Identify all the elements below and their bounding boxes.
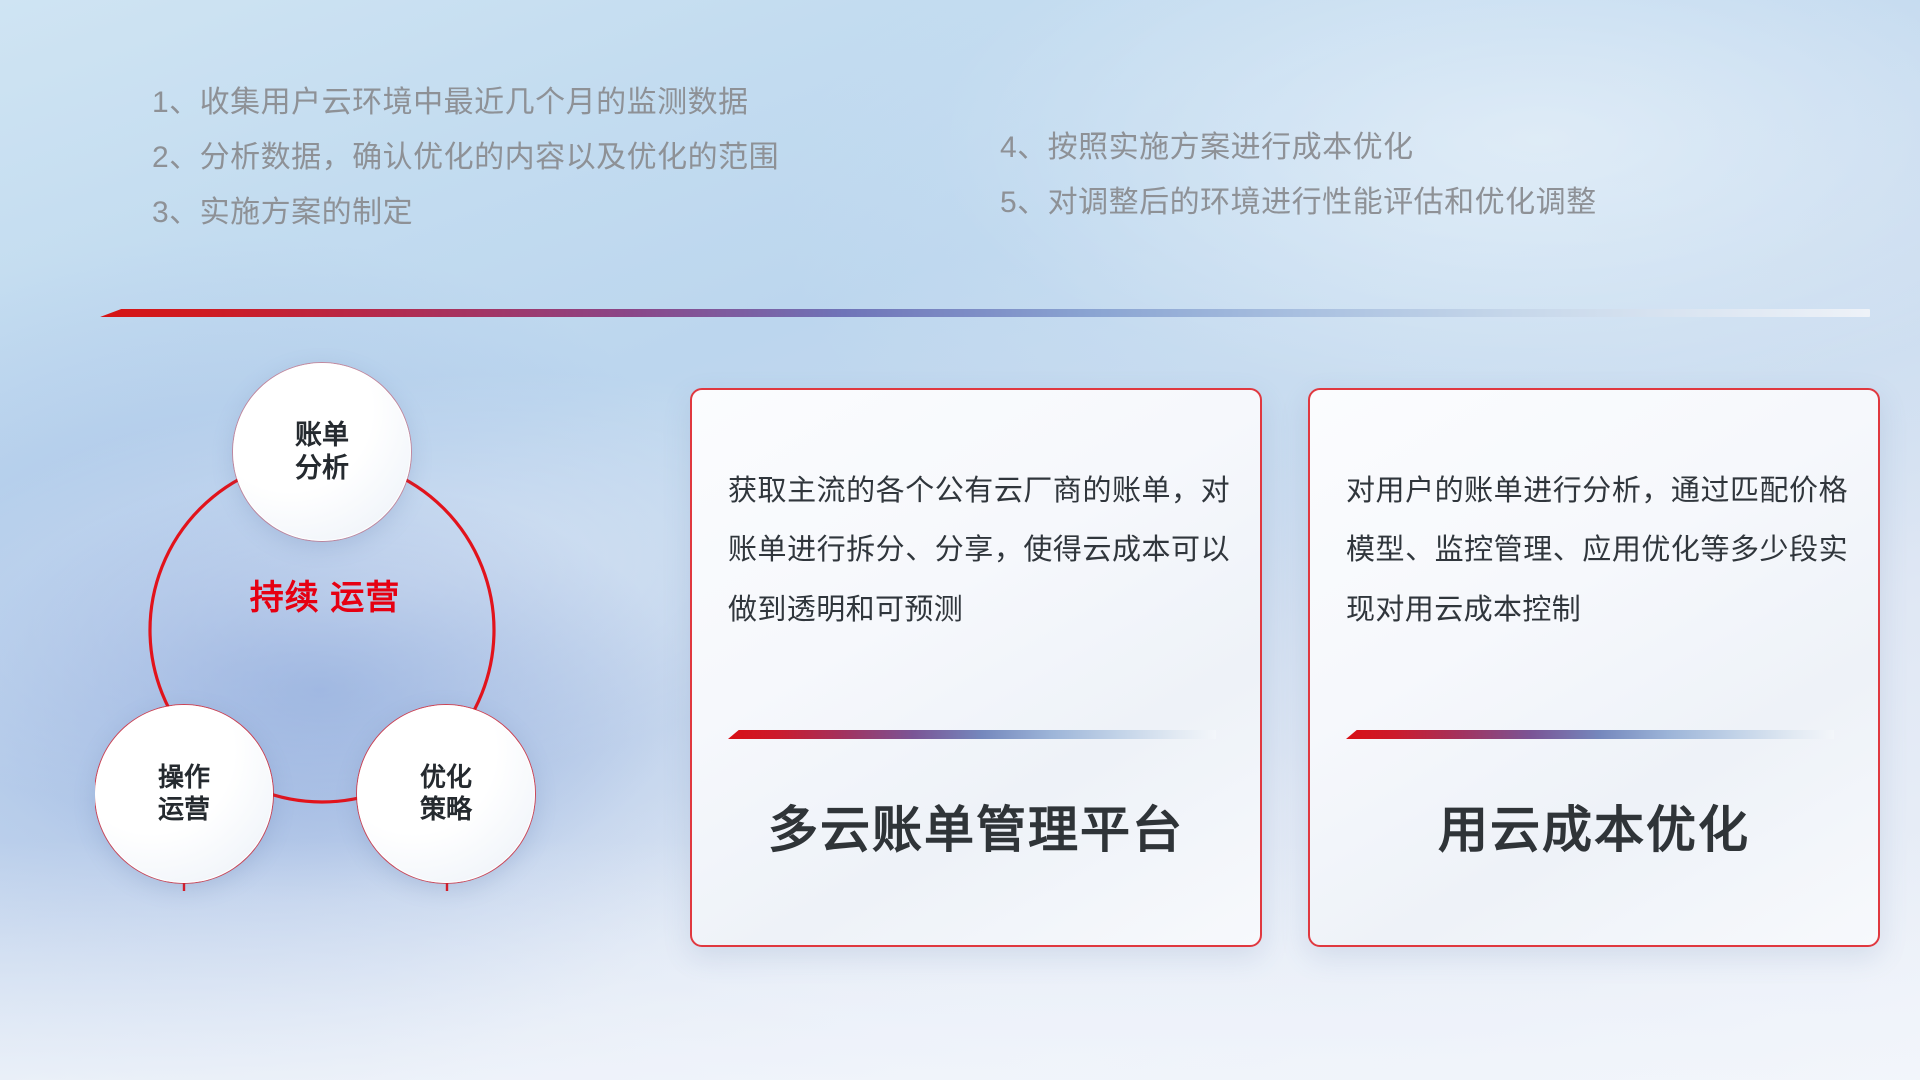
card-cloud-cost-optimization-title: 用云成本优化 (1310, 790, 1878, 862)
section-divider (100, 309, 1870, 317)
cycle-node-bill-analysis-line2: 分析 (295, 452, 349, 485)
step-item-2: 2、分析数据，确认优化的内容以及优化的范围 (152, 143, 779, 173)
cycle-node-operations-line2: 运营 (158, 794, 210, 826)
step-item-1: 1、收集用户云环境中最近几个月的监测数据 (152, 88, 779, 118)
step-item-3: 3、实施方案的制定 (152, 198, 779, 228)
card-multi-cloud-billing[interactable]: 获取主流的各个公有云厂商的账单，对账单进行拆分、分享，使得云成本可以做到透明和可… (690, 388, 1262, 947)
card-cloud-cost-optimization[interactable]: 对用户的账单进行分析，通过匹配价格模型、监控管理、应用优化等多少段实现对用云成本… (1308, 388, 1880, 947)
cycle-node-operations-line1: 操作 (158, 762, 210, 794)
cycle-diagram: 账单 分析 操作 运营 优化 策略 持续 运营 (95, 355, 655, 955)
cycle-node-optimization-strategy[interactable]: 优化 策略 (357, 705, 535, 883)
slide-canvas: 1、收集用户云环境中最近几个月的监测数据 2、分析数据，确认优化的内容以及优化的… (0, 0, 1920, 1080)
cycle-center-label-line2: 运营 (330, 579, 400, 617)
card-cloud-cost-optimization-body: 对用户的账单进行分析，通过匹配价格模型、监控管理、应用优化等多少段实现对用云成本… (1346, 462, 1848, 640)
cycle-node-operations[interactable]: 操作 运营 (95, 705, 273, 883)
cycle-node-optimization-line2: 策略 (420, 794, 472, 826)
card-multi-cloud-billing-body: 获取主流的各个公有云厂商的账单，对账单进行拆分、分享，使得云成本可以做到透明和可… (728, 462, 1230, 640)
steps-section: 1、收集用户云环境中最近几个月的监测数据 2、分析数据，确认优化的内容以及优化的… (0, 88, 1920, 258)
steps-column-left: 1、收集用户云环境中最近几个月的监测数据 2、分析数据，确认优化的内容以及优化的… (152, 88, 779, 253)
card-cloud-cost-optimization-rule (1346, 730, 1834, 739)
background-light-streak-right (940, 0, 1920, 400)
cycle-node-bill-analysis[interactable]: 账单 分析 (233, 363, 411, 541)
cycle-node-bill-analysis-line1: 账单 (295, 419, 349, 452)
cycle-node-optimization-line1: 优化 (420, 762, 472, 794)
cycle-center-label-line1: 持续 (250, 579, 320, 617)
step-item-5: 5、对调整后的环境进行性能评估和优化调整 (1000, 188, 1597, 218)
step-item-4: 4、按照实施方案进行成本优化 (1000, 133, 1597, 163)
steps-column-right: 4、按照实施方案进行成本优化 5、对调整后的环境进行性能评估和优化调整 (1000, 133, 1597, 243)
card-multi-cloud-billing-title: 多云账单管理平台 (692, 790, 1260, 862)
cycle-center-label: 持续 运营 (245, 577, 405, 619)
card-multi-cloud-billing-rule (728, 730, 1216, 739)
